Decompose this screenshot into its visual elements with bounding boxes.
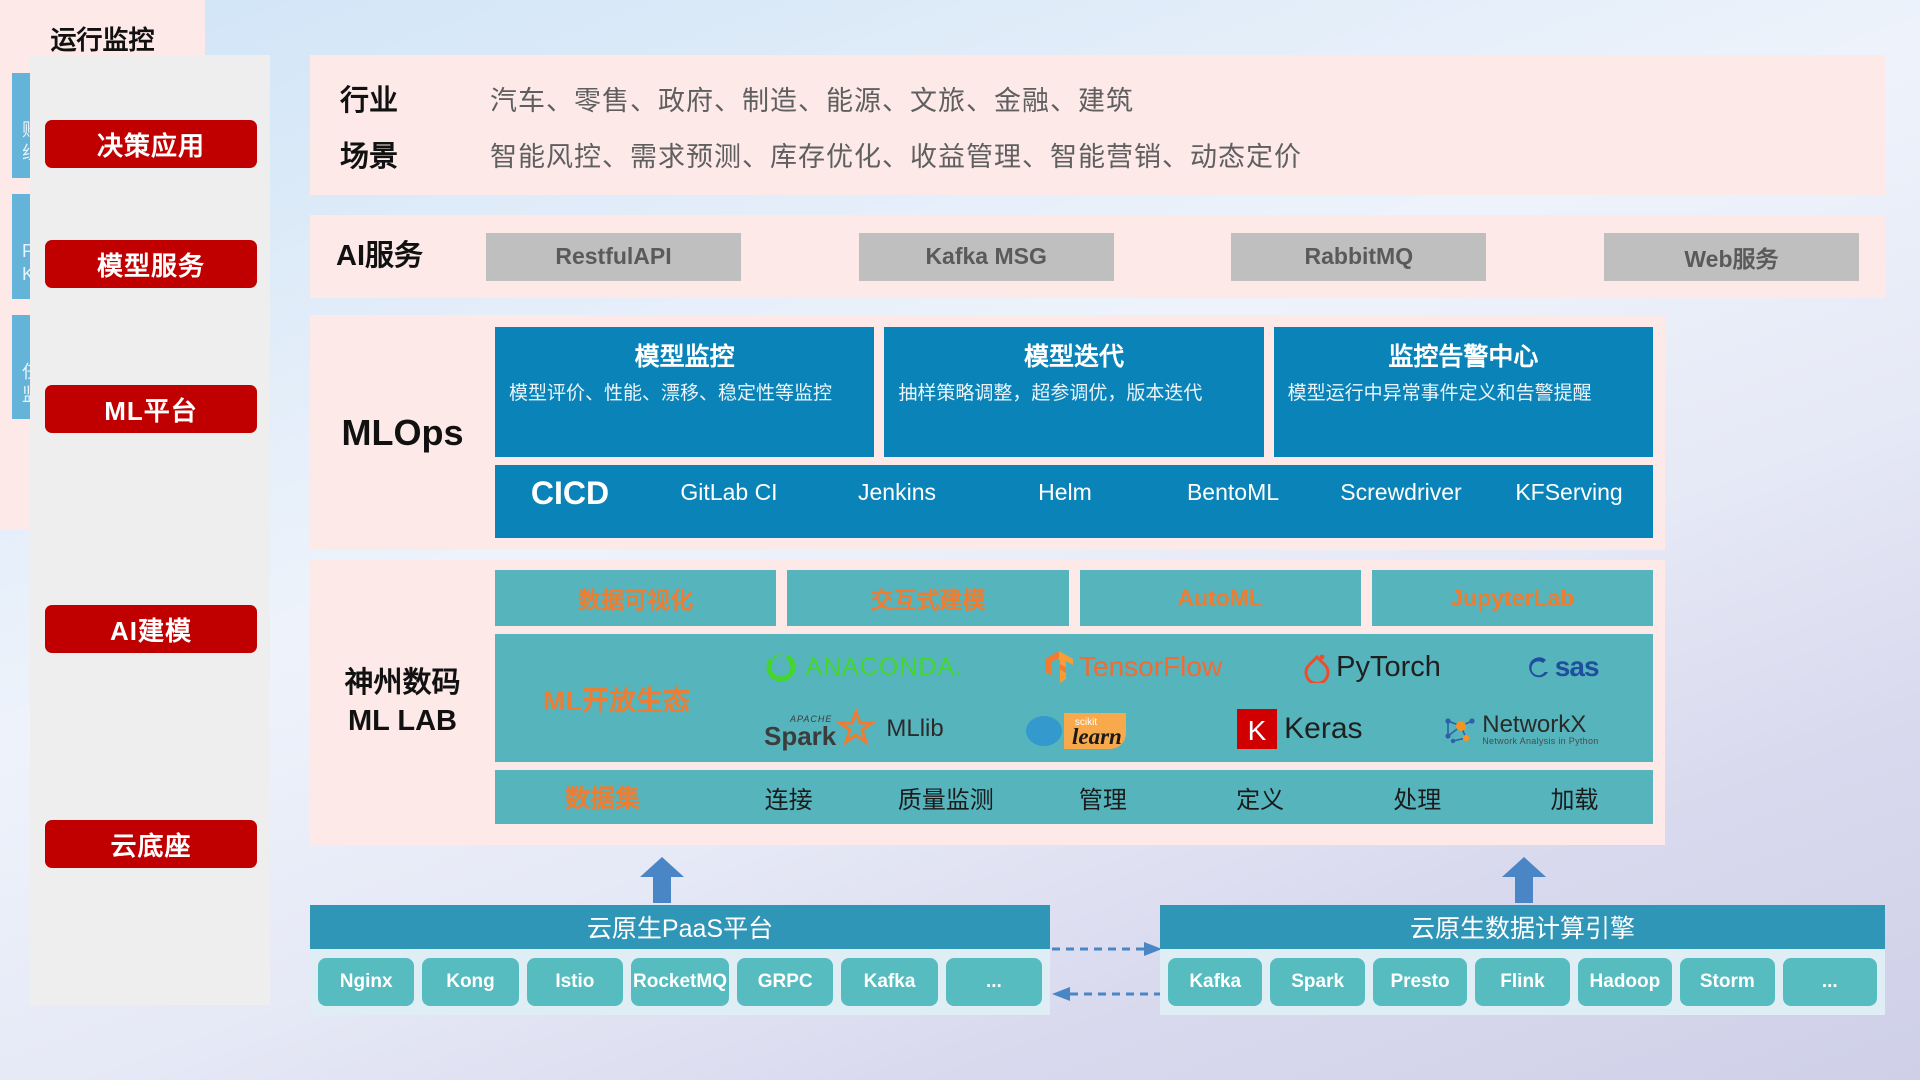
pytorch-icon (1303, 651, 1331, 683)
cicd-title: CICD (495, 475, 645, 512)
dataset-row: 数据集 连接 质量监测 管理 定义 处理 加载 (495, 770, 1653, 824)
rail-chip-ai-modeling[interactable]: AI建模 (45, 605, 257, 653)
industry-label: 行业 (340, 77, 490, 119)
ml-lab-label-line1: 神州数码 (344, 665, 460, 703)
scikit-learn-logo: scikit learn (1024, 705, 1156, 753)
dashed-arrow-right (1052, 940, 1162, 963)
cicd-item-kfserving[interactable]: KFServing (1485, 475, 1653, 505)
card-desc: 模型运行中异常事件定义和告警提醒 (1288, 381, 1639, 407)
ml-ecosystem-panel: ML开放生态 ANACONDA. (495, 634, 1653, 762)
keras-wordmark: Keras (1284, 712, 1362, 746)
dataset-item-quality[interactable]: 质量监测 (867, 780, 1024, 815)
sas-icon (1522, 652, 1552, 682)
dataset-item-manage[interactable]: 管理 (1024, 780, 1181, 815)
dashed-arrow-left (1052, 985, 1162, 1008)
up-arrow-paas (640, 857, 684, 901)
tensorflow-wordmark: TensorFlow (1079, 651, 1222, 683)
cloud-paas-column: 云原生PaaS平台 Nginx Kong Istio RocketMQ GRPC… (310, 905, 1050, 1015)
cloud-chip-kafka[interactable]: Kafka (841, 958, 937, 1006)
mlops-label: MLOps (310, 315, 495, 550)
cloud-chip-kong[interactable]: Kong (422, 958, 518, 1006)
cloud-data-engine-header: 云原生数据计算引擎 (1160, 905, 1885, 949)
ai-service-label: AI服务 (336, 238, 486, 274)
cloud-chip-nginx[interactable]: Nginx (318, 958, 414, 1006)
keras-icon: K (1237, 709, 1277, 749)
card-desc: 抽样策略调整，超参调优，版本迭代 (898, 381, 1249, 407)
cicd-item-jenkins[interactable]: Jenkins (813, 475, 981, 505)
rail-chip-decision[interactable]: 决策应用 (45, 120, 257, 168)
cloud-data-engine-column: 云原生数据计算引擎 Kafka Spark Presto Flink Hadoo… (1160, 905, 1885, 1015)
networkx-logo: NetworkX Network Analysis in Python (1443, 712, 1598, 746)
pytorch-logo: PyTorch (1303, 651, 1441, 684)
engine-chip-more[interactable]: ... (1783, 958, 1877, 1006)
engine-chip-kafka[interactable]: Kafka (1168, 958, 1262, 1006)
networkx-wordmark: NetworkX (1482, 713, 1598, 737)
cloud-chip-rocketmq[interactable]: RocketMQ (631, 958, 729, 1006)
anaconda-logo: ANACONDA. (764, 650, 963, 684)
networkx-icon (1443, 712, 1477, 746)
dataset-item-load[interactable]: 加载 (1496, 780, 1653, 815)
sas-logo: sas (1522, 651, 1599, 683)
spark-mllib-logo: APACHE Spark MLlib (764, 707, 943, 751)
mlops-card-model-monitoring[interactable]: 模型监控 模型评价、性能、漂移、稳定性等监控 (495, 327, 874, 457)
ai-modeling-band: 神州数码 ML LAB 数据可视化 交互式建模 AutoML JupyterLa… (310, 560, 1665, 845)
engine-chip-storm[interactable]: Storm (1680, 958, 1774, 1006)
dataset-title: 数据集 (495, 779, 710, 815)
cloud-paas-header: 云原生PaaS平台 (310, 905, 1050, 949)
ml-lab-label: 神州数码 ML LAB (310, 560, 495, 845)
ml-lab-label-line2: ML LAB (344, 703, 460, 741)
service-box-rabbitmq[interactable]: RabbitMQ (1231, 233, 1486, 281)
card-title: 监控告警中心 (1288, 337, 1639, 373)
keras-logo: K Keras (1237, 709, 1362, 749)
industry-values: 汽车、零售、政府、制造、能源、文旅、金融、建筑 (490, 79, 1885, 118)
anaconda-icon (764, 650, 798, 684)
card-desc: 模型评价、性能、漂移、稳定性等监控 (509, 381, 860, 407)
mlops-band: MLOps 模型监控 模型评价、性能、漂移、稳定性等监控 模型迭代 抽样策略调整… (310, 315, 1665, 550)
card-title: 模型监控 (509, 337, 860, 373)
cloud-chip-grpc[interactable]: GRPC (737, 958, 833, 1006)
engine-chip-flink[interactable]: Flink (1475, 958, 1569, 1006)
dataset-item-process[interactable]: 处理 (1339, 780, 1496, 815)
rail-chip-model-service[interactable]: 模型服务 (45, 240, 257, 288)
tool-box-automl[interactable]: AutoML (1080, 570, 1361, 626)
scenario-label: 场景 (340, 133, 490, 175)
service-box-restfulapi[interactable]: RestfulAPI (486, 233, 741, 281)
svg-text:learn: learn (1072, 724, 1122, 749)
tool-box-interactive-modeling[interactable]: 交互式建模 (787, 570, 1068, 626)
svg-text:K: K (1248, 715, 1267, 746)
rail-chip-ml-platform[interactable]: ML平台 (45, 385, 257, 433)
left-stage-rail: 决策应用 模型服务 ML平台 AI建模 云底座 (30, 55, 270, 1005)
dataset-item-define[interactable]: 定义 (1182, 780, 1339, 815)
cloud-chip-istio[interactable]: Istio (527, 958, 623, 1006)
engine-chip-presto[interactable]: Presto (1373, 958, 1467, 1006)
tool-box-jupyterlab[interactable]: JupyterLab (1372, 570, 1653, 626)
service-box-web[interactable]: Web服务 (1604, 233, 1859, 281)
spark-icon: APACHE Spark (764, 707, 882, 751)
card-title: 模型迭代 (898, 337, 1249, 373)
cicd-bar: CICD GitLab CI Jenkins Helm BentoML Scre… (495, 465, 1653, 538)
cloud-chip-more[interactable]: ... (946, 958, 1042, 1006)
mlops-card-model-iteration[interactable]: 模型迭代 抽样策略调整，超参调优，版本迭代 (884, 327, 1263, 457)
up-arrow-data-engine (1502, 857, 1546, 901)
svg-text:Spark: Spark (764, 721, 837, 751)
application-band: 行业 汽车、零售、政府、制造、能源、文旅、金融、建筑 场景 智能风控、需求预测、… (310, 55, 1885, 195)
cicd-item-bentoml[interactable]: BentoML (1149, 475, 1317, 505)
dataset-item-connect[interactable]: 连接 (710, 780, 867, 815)
ml-ecosystem-title: ML开放生态 (509, 679, 724, 718)
networkx-tagline: Network Analysis in Python (1482, 737, 1598, 746)
ai-service-band: AI服务 RestfulAPI Kafka MSG RabbitMQ Web服务 (310, 215, 1885, 298)
anaconda-wordmark: ANACONDA. (805, 653, 963, 682)
scenario-values: 智能风控、需求预测、库存优化、收益管理、智能营销、动态定价 (490, 135, 1885, 174)
rail-chip-cloud-base[interactable]: 云底座 (45, 820, 257, 868)
service-box-kafka-msg[interactable]: Kafka MSG (859, 233, 1114, 281)
sas-wordmark: sas (1555, 651, 1599, 683)
tensorflow-logo: TensorFlow (1044, 650, 1222, 684)
tensorflow-icon (1044, 650, 1074, 684)
engine-chip-hadoop[interactable]: Hadoop (1578, 958, 1672, 1006)
mlops-card-alert-center[interactable]: 监控告警中心 模型运行中异常事件定义和告警提醒 (1274, 327, 1653, 457)
cicd-item-gitlab-ci[interactable]: GitLab CI (645, 475, 813, 505)
runtime-monitor-header: 运行监控 (12, 20, 193, 57)
mllib-wordmark: MLlib (886, 715, 943, 743)
engine-chip-spark[interactable]: Spark (1270, 958, 1364, 1006)
pytorch-wordmark: PyTorch (1336, 651, 1441, 684)
scikit-learn-icon: scikit learn (1024, 705, 1156, 753)
cicd-item-helm[interactable]: Helm (981, 475, 1149, 505)
tool-box-data-visualization[interactable]: 数据可视化 (495, 570, 776, 626)
cicd-item-screwdriver[interactable]: Screwdriver (1317, 475, 1485, 505)
